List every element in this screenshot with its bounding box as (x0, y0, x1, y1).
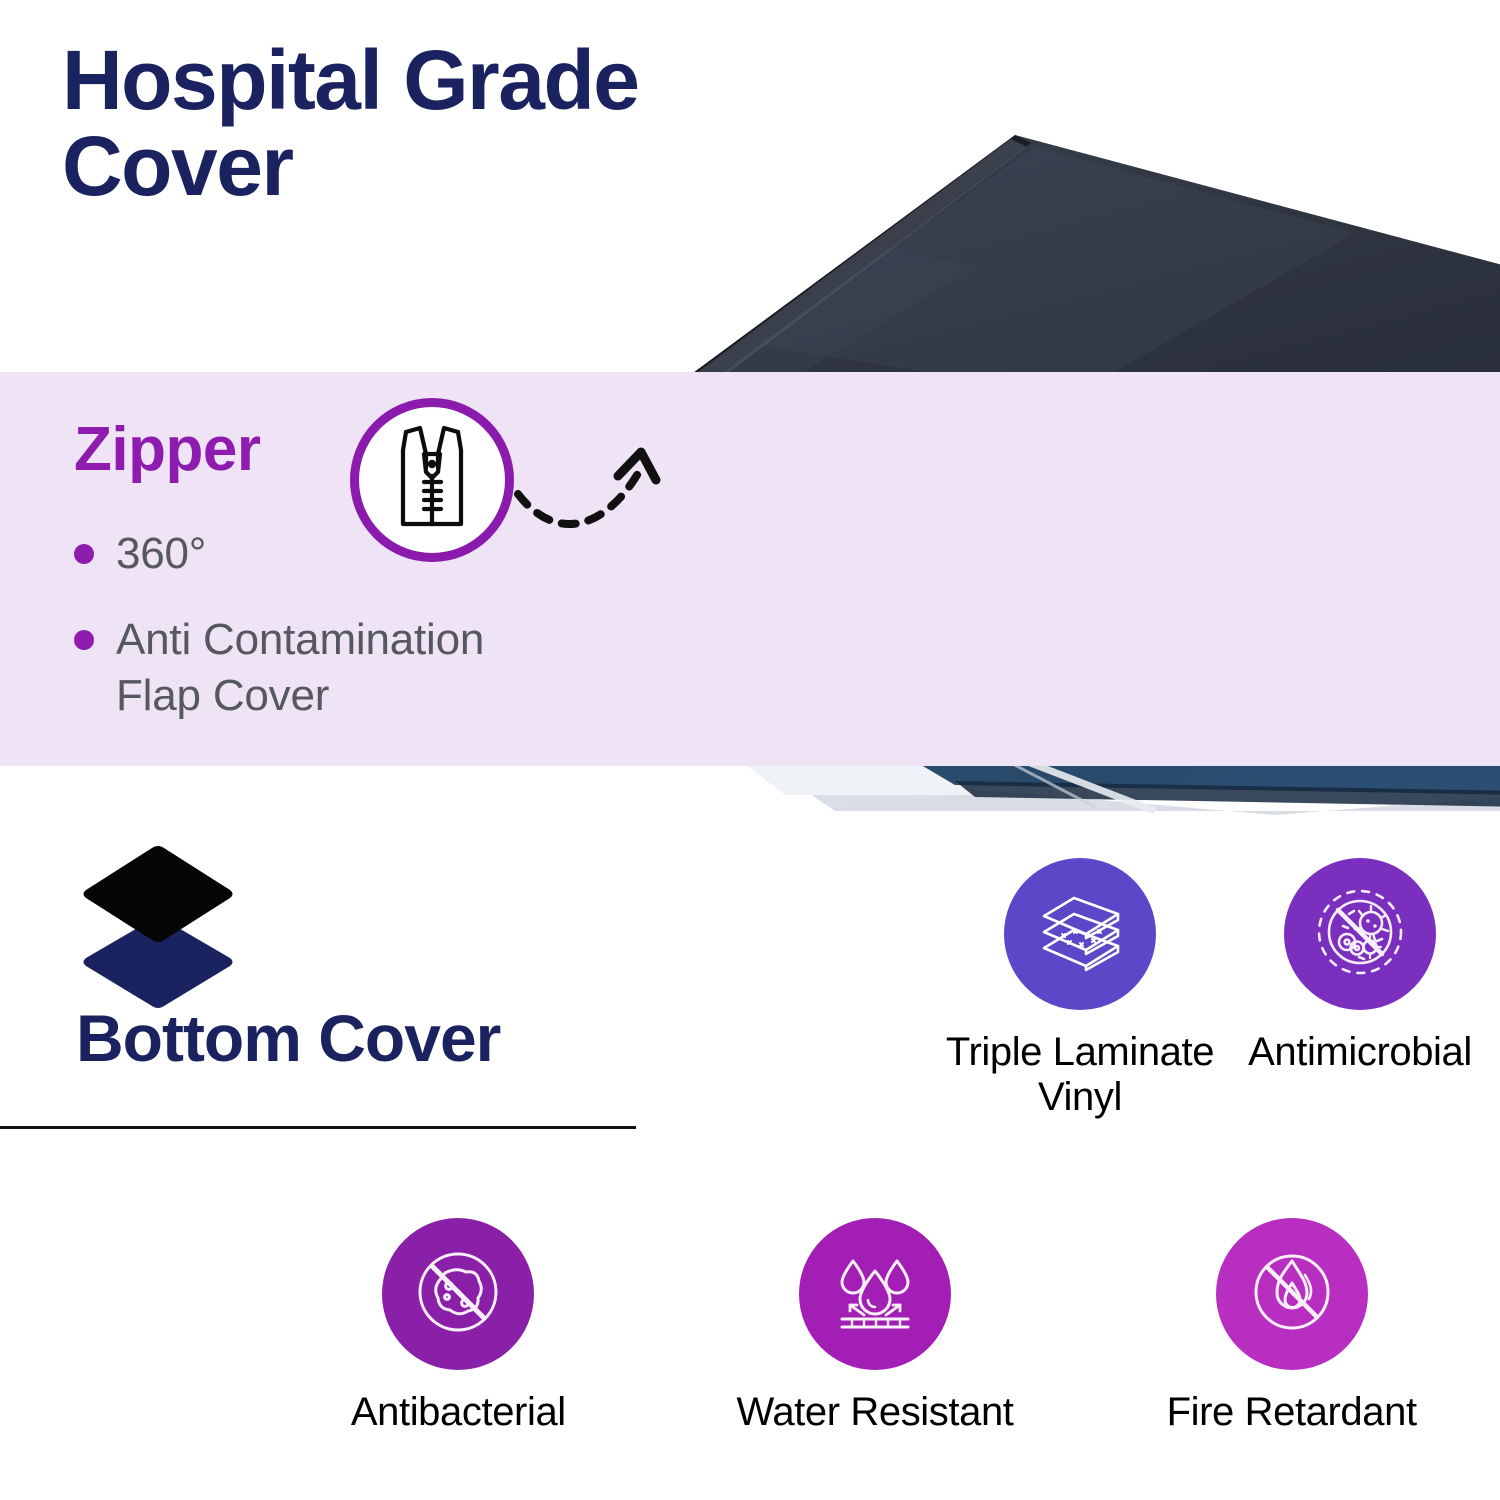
zipper-icon-badge (350, 398, 514, 562)
bullet-dot-icon (74, 630, 94, 650)
no-microbe-icon (1313, 885, 1407, 984)
bottom-cover-heading: Bottom Cover (76, 1000, 500, 1076)
feature-item-antibacterial: Antibacterial (250, 1218, 667, 1468)
features-grid-row-2: Antibacterial (250, 1218, 1500, 1468)
dashed-curved-arrow-icon (498, 430, 688, 560)
zipper-bullet-360: 360° (74, 526, 206, 582)
feature-badge-circle (1216, 1218, 1368, 1370)
features-grid-row-1: Triple Laminate Vinyl (660, 858, 1500, 1188)
feature-item-antimicrobial: Antimicrobial (1220, 858, 1500, 1188)
feature-badge-circle (1004, 858, 1156, 1010)
zipper-icon (386, 420, 478, 541)
water-droplets-icon (828, 1245, 922, 1344)
page-title: Hospital Grade Cover (62, 38, 962, 209)
feature-label: Water Resistant (736, 1390, 1013, 1435)
feature-label: Antimicrobial (1248, 1030, 1472, 1075)
zipper-bullet-label: Anti Contamination Flap Cover (116, 612, 484, 725)
feature-item-triple-laminate-vinyl: Triple Laminate Vinyl (940, 858, 1220, 1188)
feature-label: Triple Laminate Vinyl (946, 1030, 1214, 1120)
zipper-heading: Zipper (74, 414, 260, 485)
no-bacteria-icon (411, 1245, 505, 1344)
feature-badge-circle (799, 1218, 951, 1370)
zipper-bullet-flap-cover: Anti Contamination Flap Cover (74, 612, 484, 725)
infographic-root: Hospital Grade Cover Zipper 360° Anti Co… (0, 0, 1500, 1500)
triple-laminate-layers-icon (1034, 886, 1126, 983)
zipper-bullet-label: 360° (116, 526, 206, 582)
feature-item-water-resistant: Water Resistant (667, 1218, 1084, 1468)
no-flame-icon (1245, 1245, 1339, 1344)
feature-item-fire-retardant: Fire Retardant (1083, 1218, 1500, 1468)
feature-label: Antibacterial (351, 1390, 566, 1435)
layers-icon (78, 840, 238, 1020)
bullet-dot-icon (74, 544, 94, 564)
feature-label: Fire Retardant (1167, 1390, 1417, 1435)
feature-badge-circle (1284, 858, 1436, 1010)
section-divider (0, 1126, 636, 1129)
feature-badge-circle (382, 1218, 534, 1370)
